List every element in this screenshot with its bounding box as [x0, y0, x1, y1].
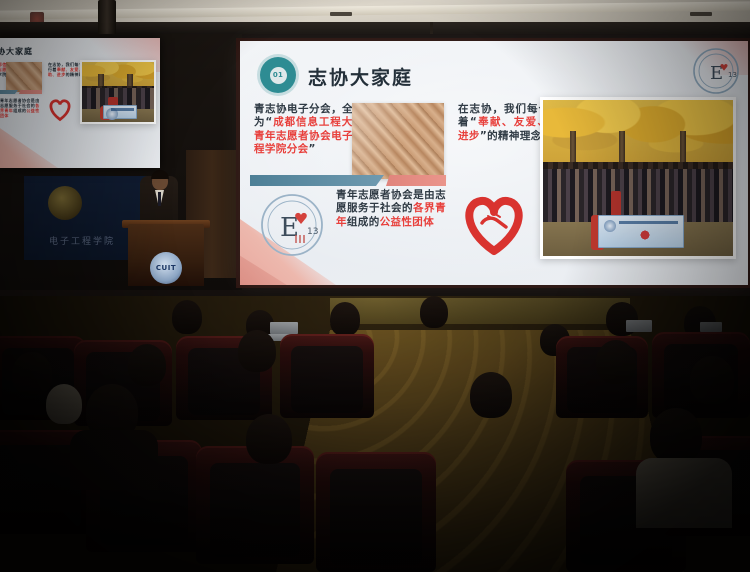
ceiling-vent-icon	[690, 12, 712, 16]
slide-text-definition: 青年志愿者协会是由志愿服务于社会的各界青年组成的公益性团体	[336, 189, 446, 229]
photo-banner-text	[619, 221, 678, 224]
svg-text:13: 13	[728, 71, 737, 79]
slide-text-definition-mid: 组成的	[347, 216, 380, 228]
svg-text:13: 13	[307, 227, 318, 237]
slide-divider-bar-teal	[250, 175, 384, 186]
confidence-monitor-slide: 志协大家庭 青志协电子分成都信息工程大学青年志愿者协会电子工程学院分会 在志协，…	[0, 38, 160, 168]
association-seal-logo-corner-icon: E 13	[690, 45, 742, 97]
monitor-slide-title: 志协大家庭	[0, 46, 33, 57]
presentation-slide: 01 志协大家庭 E 13 青志协电子分会，全称为“成都信息工程大学青年志愿者协…	[240, 41, 748, 285]
slide-text-intro: 青志协电子分会，全称为“成都信息工程大学青年志愿者协会电子工程学院分会”	[254, 103, 364, 157]
presenter-tie	[158, 192, 161, 206]
backdrop-text: 电子工程学院	[26, 236, 138, 248]
floor-shadow	[0, 296, 750, 572]
slide-text-spirit-tail: ”的精神理念	[480, 130, 542, 142]
slide-text-intro-tail: ”	[309, 143, 316, 155]
photo-crowd-bodies	[543, 169, 733, 222]
podium-seal-icon: CUIT	[150, 252, 182, 284]
association-seal-logo-icon: E 13	[254, 189, 330, 261]
slide-text-definition-highlight2: 公益性团体	[380, 216, 435, 228]
slide-section-badge-inner: 01	[270, 67, 287, 84]
auditorium-photo: 电子工程学院 CUIT 志协大家庭 青志协电子分成都信息工程大学青年志愿者协会电…	[0, 0, 750, 572]
slide-title: 志协大家庭	[308, 63, 413, 90]
photo-banner-seal-icon	[604, 220, 616, 232]
ceiling-vent-icon	[330, 12, 352, 16]
group-photo	[540, 97, 736, 259]
university-emblem-icon	[48, 186, 82, 220]
wood-texture-image	[352, 103, 444, 179]
projection-screen: 01 志协大家庭 E 13 青志协电子分会，全称为“成都信息工程大学青年志愿者协…	[240, 41, 748, 285]
slide-divider-bar-salmon	[386, 175, 446, 186]
wood-texture-highlight	[352, 103, 444, 179]
heart-hand-icon	[458, 191, 530, 257]
photo-banner	[598, 215, 684, 248]
slide-section-badge: 01	[260, 57, 296, 93]
podium-seal-text: CUIT	[156, 264, 176, 272]
group-photo-content	[543, 100, 733, 256]
slide-section-number: 01	[273, 71, 283, 79]
confidence-monitor: 志协大家庭 青志协电子分成都信息工程大学青年志愿者协会电子工程学院分会 在志协，…	[0, 38, 160, 168]
photo-banner-logo-icon	[636, 229, 654, 241]
